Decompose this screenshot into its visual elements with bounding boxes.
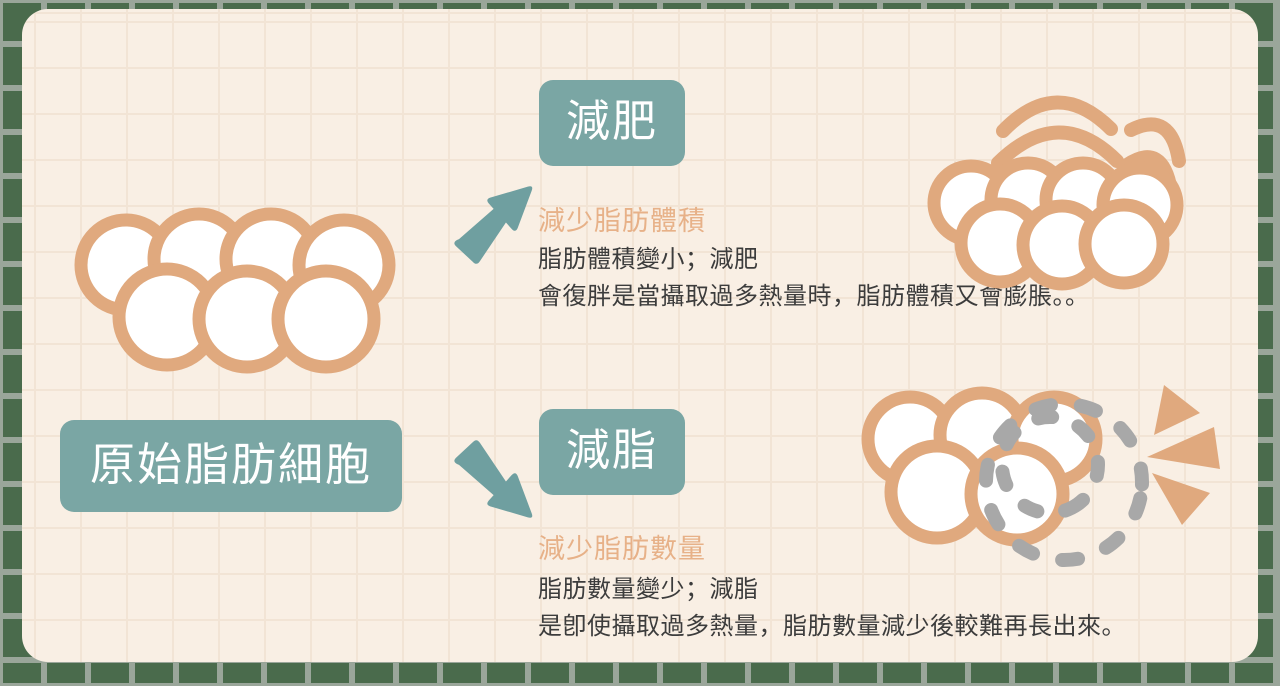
burst-rays-icon — [1147, 385, 1220, 525]
fat-cell — [1085, 205, 1163, 283]
arrow-down-right-icon — [446, 433, 542, 529]
arrow-up-right-icon — [446, 175, 542, 271]
burst-ray — [1154, 385, 1200, 435]
badge-original-fat-cell[interactable]: 原始脂肪細胞 — [60, 420, 402, 512]
subtitle-fat-reduction: 減少脂肪數量 — [538, 527, 706, 566]
original-fat-cells-illustration — [74, 207, 404, 377]
fat-cell — [278, 271, 374, 367]
badge-weight-loss[interactable]: 減肥 — [539, 80, 685, 166]
reduced-fat-cells-illustration — [842, 377, 1258, 587]
infographic-card: 原始脂肪細胞 減肥 減少脂肪體積 脂肪體積變小；減肥 會復胖是當攝取過多熱量時，… — [22, 9, 1258, 662]
subtitle-weight-loss: 減少脂肪體積 — [538, 199, 706, 238]
shrunk-fat-cells-illustration — [915, 53, 1215, 293]
badge-fat-reduction[interactable]: 減脂 — [539, 409, 685, 495]
burst-ray — [1152, 473, 1210, 525]
board-background: 原始脂肪細胞 減肥 減少脂肪體積 脂肪體積變小；減肥 會復胖是當攝取過多熱量時，… — [0, 0, 1280, 686]
burst-ray — [1147, 427, 1220, 469]
